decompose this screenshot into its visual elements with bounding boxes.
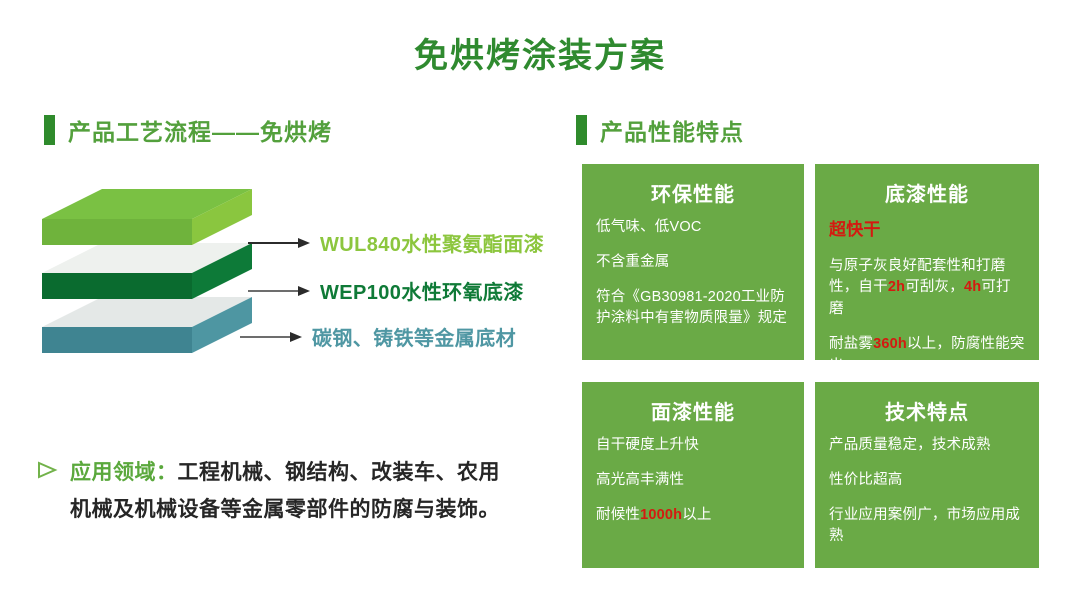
highlight-text: 1000h — [640, 507, 682, 523]
body-text: 可刮灰， — [905, 279, 964, 295]
feature-card-title: 底漆性能 — [829, 178, 1025, 207]
body-text: 低气味、低VOC — [596, 219, 702, 235]
feature-card-line: 低气味、低VOC — [596, 217, 790, 239]
feature-card-title: 面漆性能 — [596, 396, 790, 425]
section-header-process: 产品工艺流程——免烘烤 — [44, 113, 332, 147]
feature-card-body: 低气味、低VOC不含重金属符合《GB30981-2020工业防护涂料中有害物质限… — [596, 217, 790, 330]
section-accent-bar — [44, 115, 55, 145]
layer-stack-illustration — [24, 185, 284, 385]
feature-card-line: 性价比超高 — [829, 470, 1025, 492]
section-header-features: 产品性能特点 — [576, 113, 744, 147]
feature-card-line: 耐候性1000h以上 — [596, 505, 790, 527]
application-area-line1: 工程机械、钢结构、改装车、农用 — [178, 461, 501, 484]
section-header-process-label: 产品工艺流程——免烘烤 — [68, 113, 332, 147]
body-text: 自干硬度上升快 — [596, 437, 699, 453]
layer-label-row-topcoat: WUL840水性聚氨酯面漆 — [248, 228, 544, 257]
feature-card-title: 技术特点 — [829, 396, 1025, 425]
highlight-text: 360h — [873, 336, 907, 352]
page-title: 免烘烤涂装方案 — [0, 28, 1080, 77]
application-area-block: 应用领域：工程机械、钢结构、改装车、农用机械及机械设备等金属零部件的防腐与装饰。 — [36, 455, 556, 529]
section-header-features-label: 产品性能特点 — [600, 113, 744, 147]
feature-card-line: 与原子灰良好配套性和打磨性，自干2h可刮灰，4h可打磨 — [829, 256, 1025, 321]
layer-label-primer: WEP100水性环氧底漆 — [310, 276, 524, 305]
arrow-triangle-icon — [36, 455, 70, 480]
feature-card-line: 耐盐雾360h以上，防腐性能突出 — [829, 334, 1025, 360]
feature-card-line: 行业应用案例广，市场应用成熟 — [829, 505, 1025, 549]
arrow-right-icon — [248, 284, 310, 298]
arrow-right-icon — [240, 330, 302, 344]
body-text: 以上 — [682, 507, 711, 523]
feature-card-title: 环保性能 — [596, 178, 790, 207]
application-area-line2: 机械及机械设备等金属零部件的防腐与装饰。 — [70, 498, 500, 521]
highlight-text: 超快干 — [829, 220, 881, 239]
body-text: 高光高丰满性 — [596, 472, 684, 488]
body-text: 耐候性 — [596, 507, 640, 523]
feature-card-primer[interactable]: 底漆性能 超快干与原子灰良好配套性和打磨性，自干2h可刮灰，4h可打磨耐盐雾36… — [815, 164, 1039, 360]
body-text: 行业应用案例广，市场应用成熟 — [829, 507, 1020, 545]
feature-card-body: 超快干与原子灰良好配套性和打磨性，自干2h可刮灰，4h可打磨耐盐雾360h以上，… — [829, 217, 1025, 360]
feature-card-body: 自干硬度上升快高光高丰满性耐候性1000h以上 — [596, 435, 790, 526]
body-text: 性价比超高 — [829, 472, 903, 488]
body-text: 耐盐雾 — [829, 336, 873, 352]
feature-card-line: 产品质量稳定，技术成熟 — [829, 435, 1025, 457]
feature-card-line: 不含重金属 — [596, 252, 790, 274]
body-text: 产品质量稳定，技术成熟 — [829, 437, 991, 453]
feature-card-line: 高光高丰满性 — [596, 470, 790, 492]
feature-card-line: 超快干 — [829, 217, 1025, 243]
feature-card-line: 自干硬度上升快 — [596, 435, 790, 457]
arrow-right-icon — [248, 236, 310, 250]
feature-card-body: 产品质量稳定，技术成熟性价比超高行业应用案例广，市场应用成熟 — [829, 435, 1025, 548]
feature-card-topcoat[interactable]: 面漆性能 自干硬度上升快高光高丰满性耐候性1000h以上 — [582, 382, 804, 568]
body-text: 符合《GB30981-2020工业防护涂料中有害物质限量》规定 — [596, 289, 787, 327]
highlight-text: 4h — [964, 279, 981, 295]
feature-card-line: 符合《GB30981-2020工业防护涂料中有害物质限量》规定 — [596, 287, 790, 331]
layer-label-row-substrate: 碳钢、铸铁等金属底材 — [240, 322, 516, 351]
layer-shape-topcoat — [42, 189, 252, 245]
layer-shape-primer — [42, 243, 252, 299]
layer-label-row-primer: WEP100水性环氧底漆 — [248, 276, 524, 305]
feature-card-environmental[interactable]: 环保性能 低气味、低VOC不含重金属符合《GB30981-2020工业防护涂料中… — [582, 164, 804, 360]
application-area-text: 应用领域：工程机械、钢结构、改装车、农用机械及机械设备等金属零部件的防腐与装饰。 — [70, 455, 500, 529]
layer-label-substrate: 碳钢、铸铁等金属底材 — [302, 322, 516, 351]
feature-card-technical[interactable]: 技术特点 产品质量稳定，技术成熟性价比超高行业应用案例广，市场应用成熟 — [815, 382, 1039, 568]
body-text: 不含重金属 — [596, 254, 670, 270]
layer-label-topcoat: WUL840水性聚氨酯面漆 — [310, 228, 544, 257]
highlight-text: 2h — [888, 279, 905, 295]
section-accent-bar — [576, 115, 587, 145]
layer-shape-substrate — [42, 297, 252, 353]
application-area-label: 应用领域： — [70, 461, 178, 484]
